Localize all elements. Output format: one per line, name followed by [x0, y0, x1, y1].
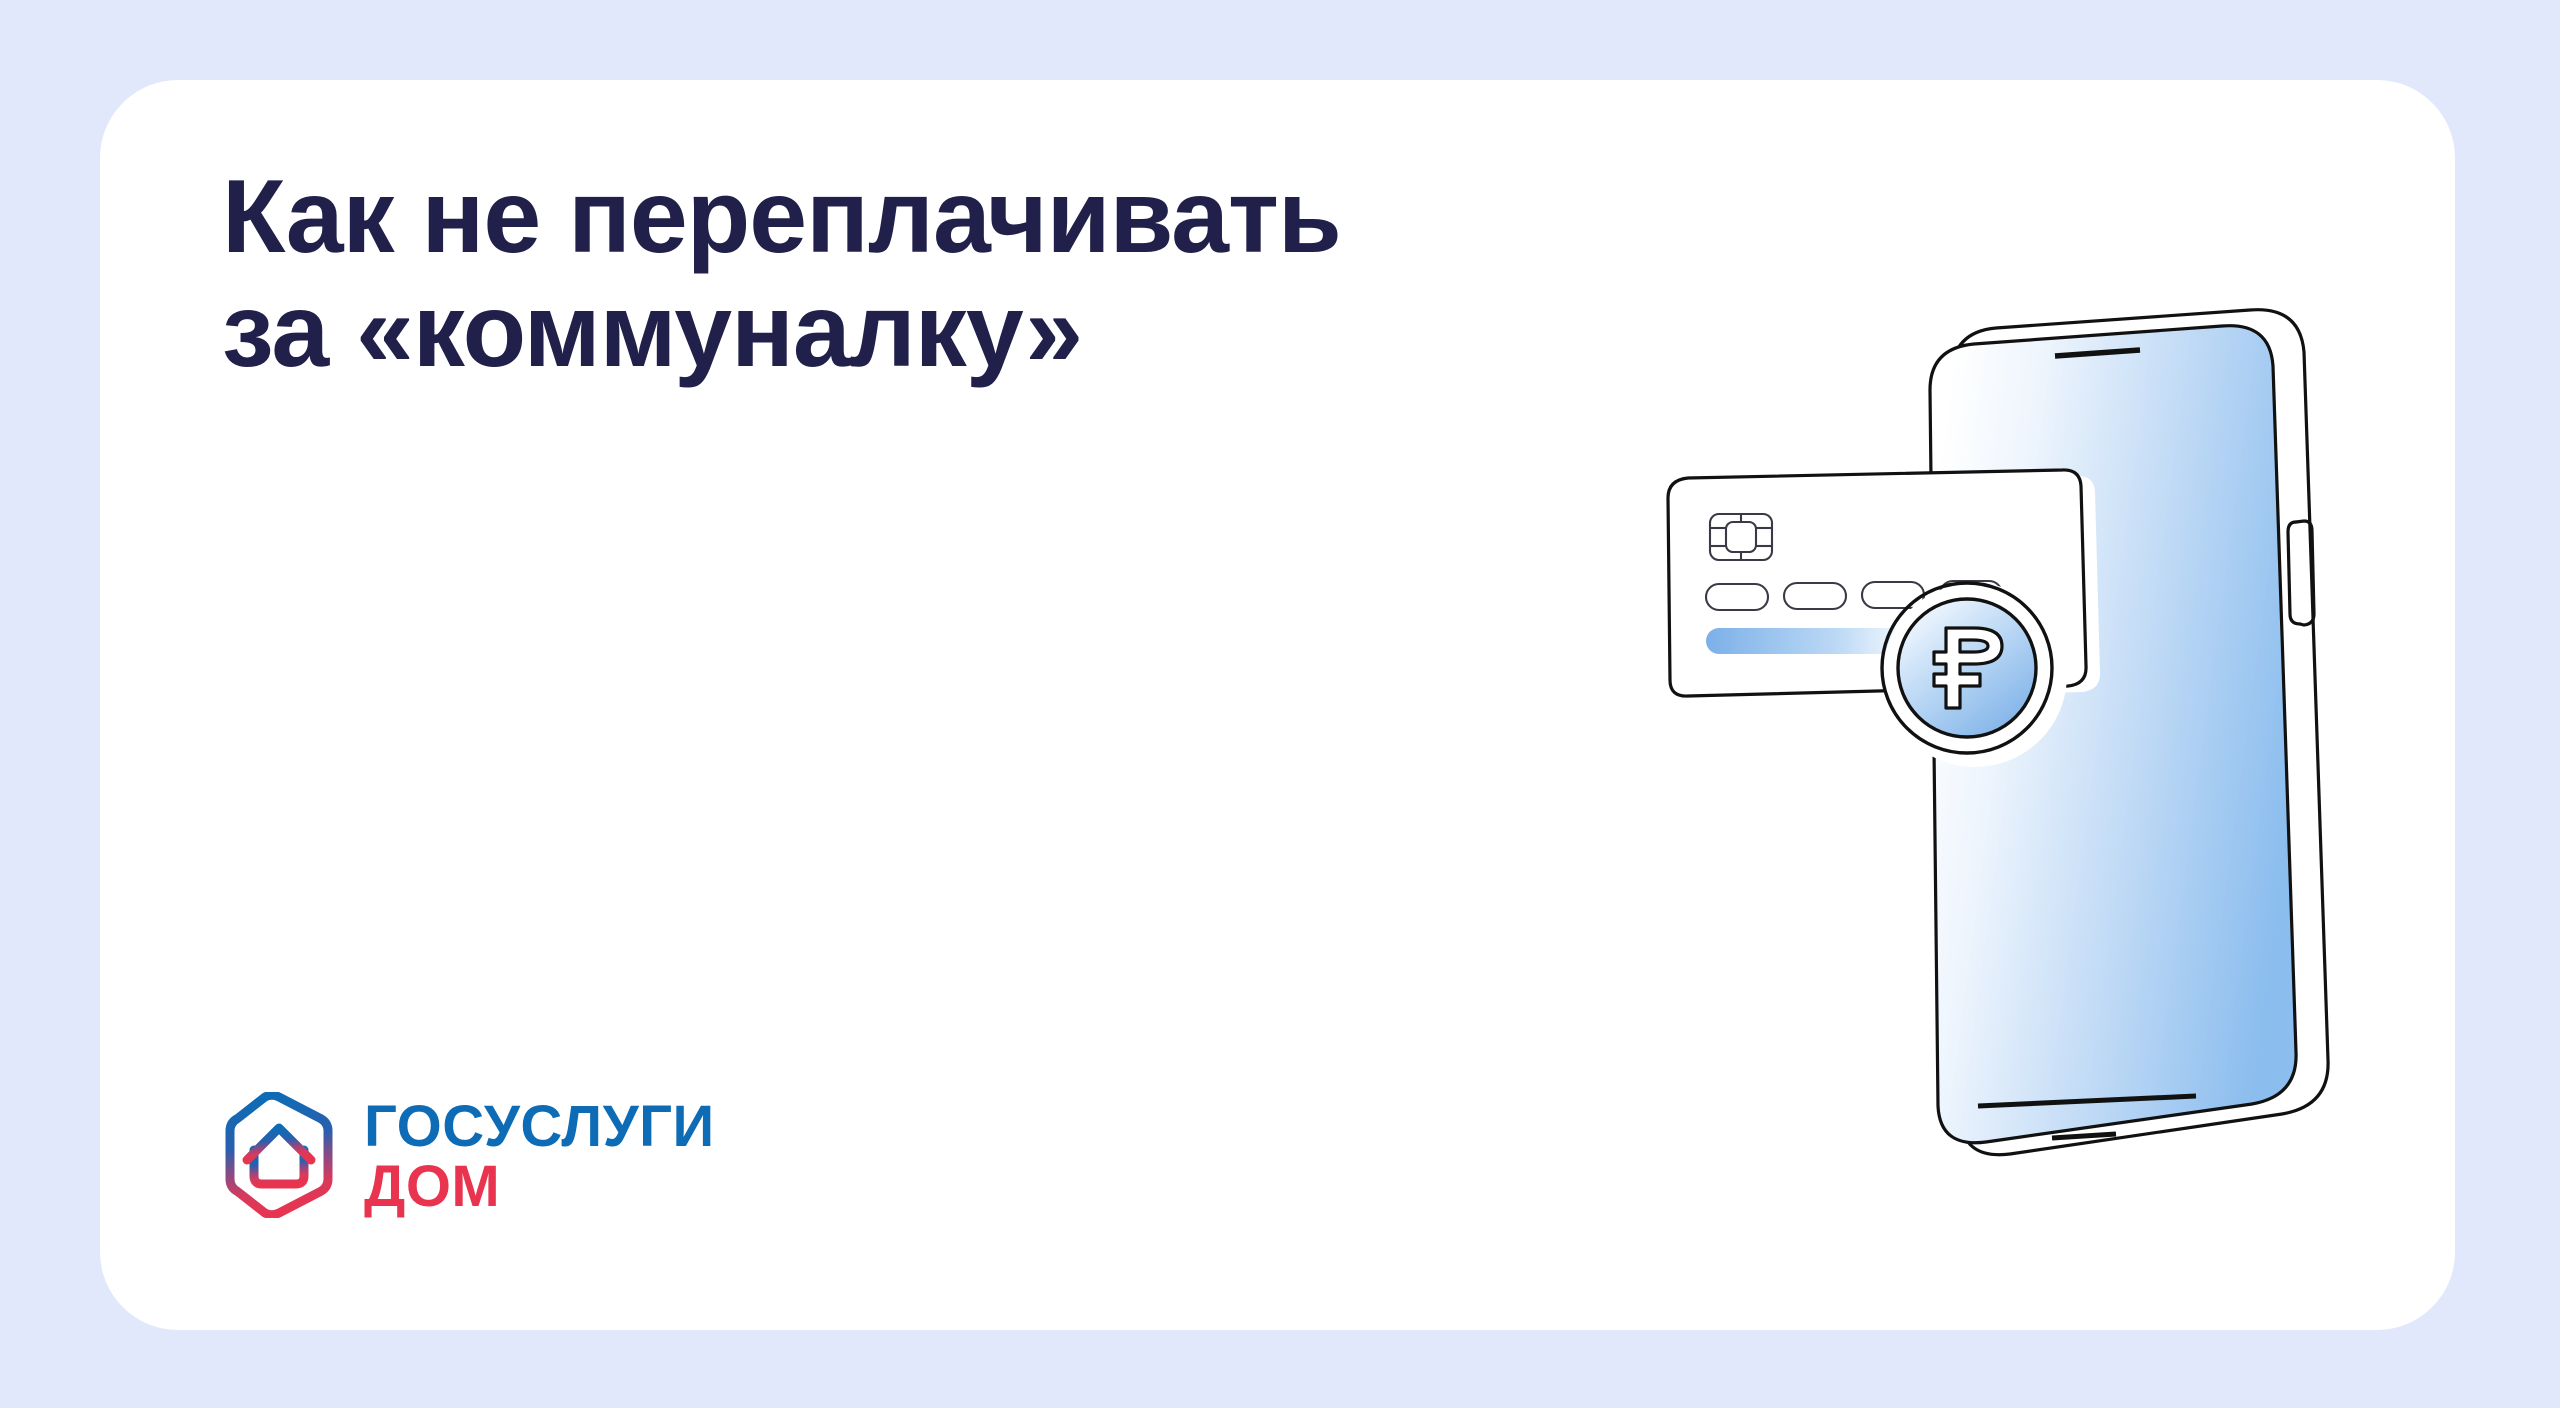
brand-wordmark: ГОСУСЛУГИ ДОМ [364, 1095, 715, 1214]
page-title: Как не переплачивать за «коммуналку» [222, 160, 1722, 389]
gosuslugi-dom-house-hexagon-icon [220, 1092, 338, 1218]
hero-illustration [1640, 270, 2400, 1210]
wordmark-gosuslugi: ГОСУСЛУГИ [364, 1099, 715, 1155]
brand-logo: ГОСУСЛУГИ ДОМ [220, 1092, 715, 1218]
wordmark-dom: ДОМ [364, 1159, 715, 1215]
ruble-coin [1882, 583, 2067, 767]
banner-card: Как не переплачивать за «коммуналку» ГОС… [100, 80, 2455, 1330]
